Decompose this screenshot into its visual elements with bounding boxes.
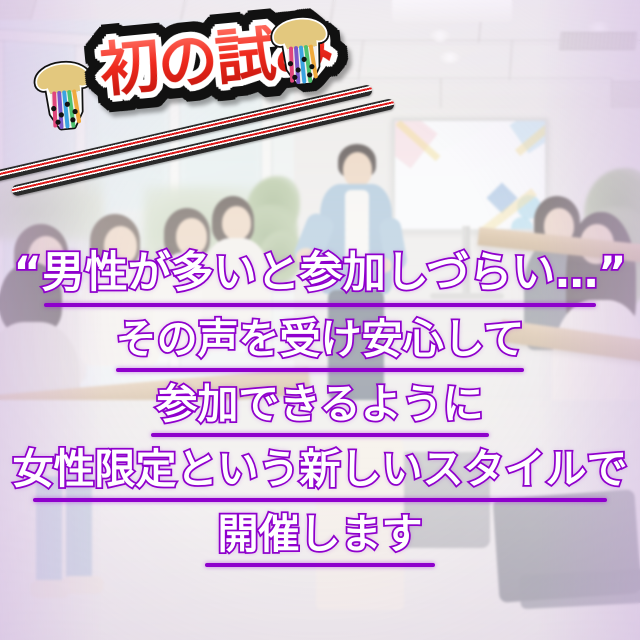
message-line-4-text: 女性限定という新しいスタイルで (11, 449, 630, 496)
kusudama-icon (25, 49, 104, 136)
message-line-2-underline (116, 368, 524, 372)
kusudama-icon (261, 4, 340, 91)
message-line-1-text: “男性が多いと参加しづらい…” (12, 252, 629, 301)
message-line-3: 参加できるように (0, 384, 640, 437)
message-line-1: “男性が多いと参加しづらい…” (0, 252, 640, 307)
message-line-5: 開催します (0, 514, 640, 567)
message-line-1-underline (44, 303, 596, 307)
message-line-5-text: 開催します (216, 514, 425, 561)
poster-canvas: 初の試み (0, 0, 640, 640)
message-line-2-text: その声を受け安心して (114, 319, 527, 366)
message-line-2: その声を受け安心して (0, 319, 640, 372)
message-line-3-underline (151, 433, 489, 437)
message-line-4-underline (33, 498, 607, 502)
message-block: “男性が多いと参加しづらい…” その声を受け安心して 参加できるように 女性限定… (0, 252, 640, 579)
message-line-3-text: 参加できるように (154, 384, 485, 431)
message-line-4: 女性限定という新しいスタイルで (0, 449, 640, 502)
message-line-5-underline (205, 563, 435, 567)
